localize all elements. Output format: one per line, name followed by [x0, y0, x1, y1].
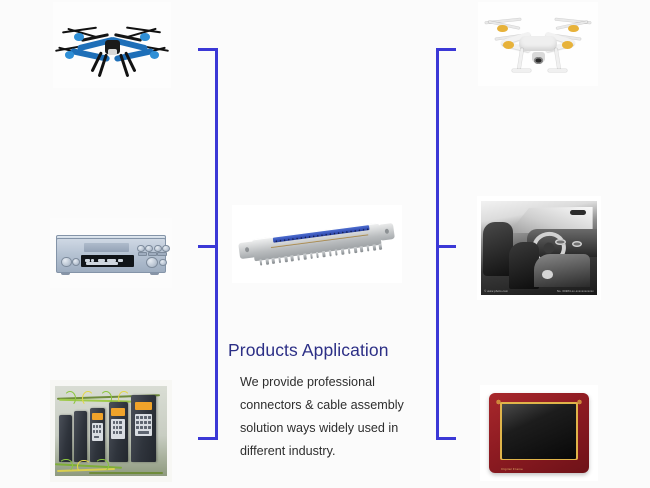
right-bracket-arm-top: [436, 48, 456, 51]
left-bracket-arm-bottom: [198, 437, 218, 440]
right-bracket-spine: [436, 48, 439, 440]
text-block: Products Application We provide professi…: [228, 340, 428, 463]
description-line: connectors & cable assembly: [240, 394, 428, 417]
description-line: different industry.: [240, 440, 428, 463]
left-bracket-arm-middle: [198, 245, 218, 248]
description-line: solution ways widely used in: [240, 417, 428, 440]
car-photo-watermark-left: © www.photo.com: [484, 290, 508, 293]
image-blue-quadcopter-drone: [53, 2, 171, 88]
right-bracket-arm-bottom: [436, 437, 456, 440]
image-dsub-connector: [232, 205, 402, 283]
left-bracket-arm-top: [198, 48, 218, 51]
image-av-receiver: [50, 218, 172, 288]
car-photo-watermark-right: No. 00284-xx-xxxxxxxxxxxx: [557, 290, 594, 293]
image-white-camera-drone: [478, 2, 598, 86]
page-title: Products Application: [228, 340, 428, 361]
image-industrial-drive-panel: [50, 380, 172, 482]
right-bracket-arm-middle: [436, 245, 456, 248]
image-car-interior: © www.photo.com No. 00284-xx-xxxxxxxxxxx…: [477, 196, 601, 300]
photo-frame-logo: Digital Frame: [501, 467, 523, 471]
products-application-slide: © www.photo.com No. 00284-xx-xxxxxxxxxxx…: [0, 0, 650, 488]
description-text: We provide professional connectors & cab…: [228, 371, 428, 463]
left-bracket-spine: [215, 48, 218, 440]
description-line: We provide professional: [240, 371, 428, 394]
right-bracket: [436, 48, 458, 440]
left-bracket: [196, 48, 218, 440]
image-digital-photo-frame: Digital Frame: [480, 385, 598, 481]
